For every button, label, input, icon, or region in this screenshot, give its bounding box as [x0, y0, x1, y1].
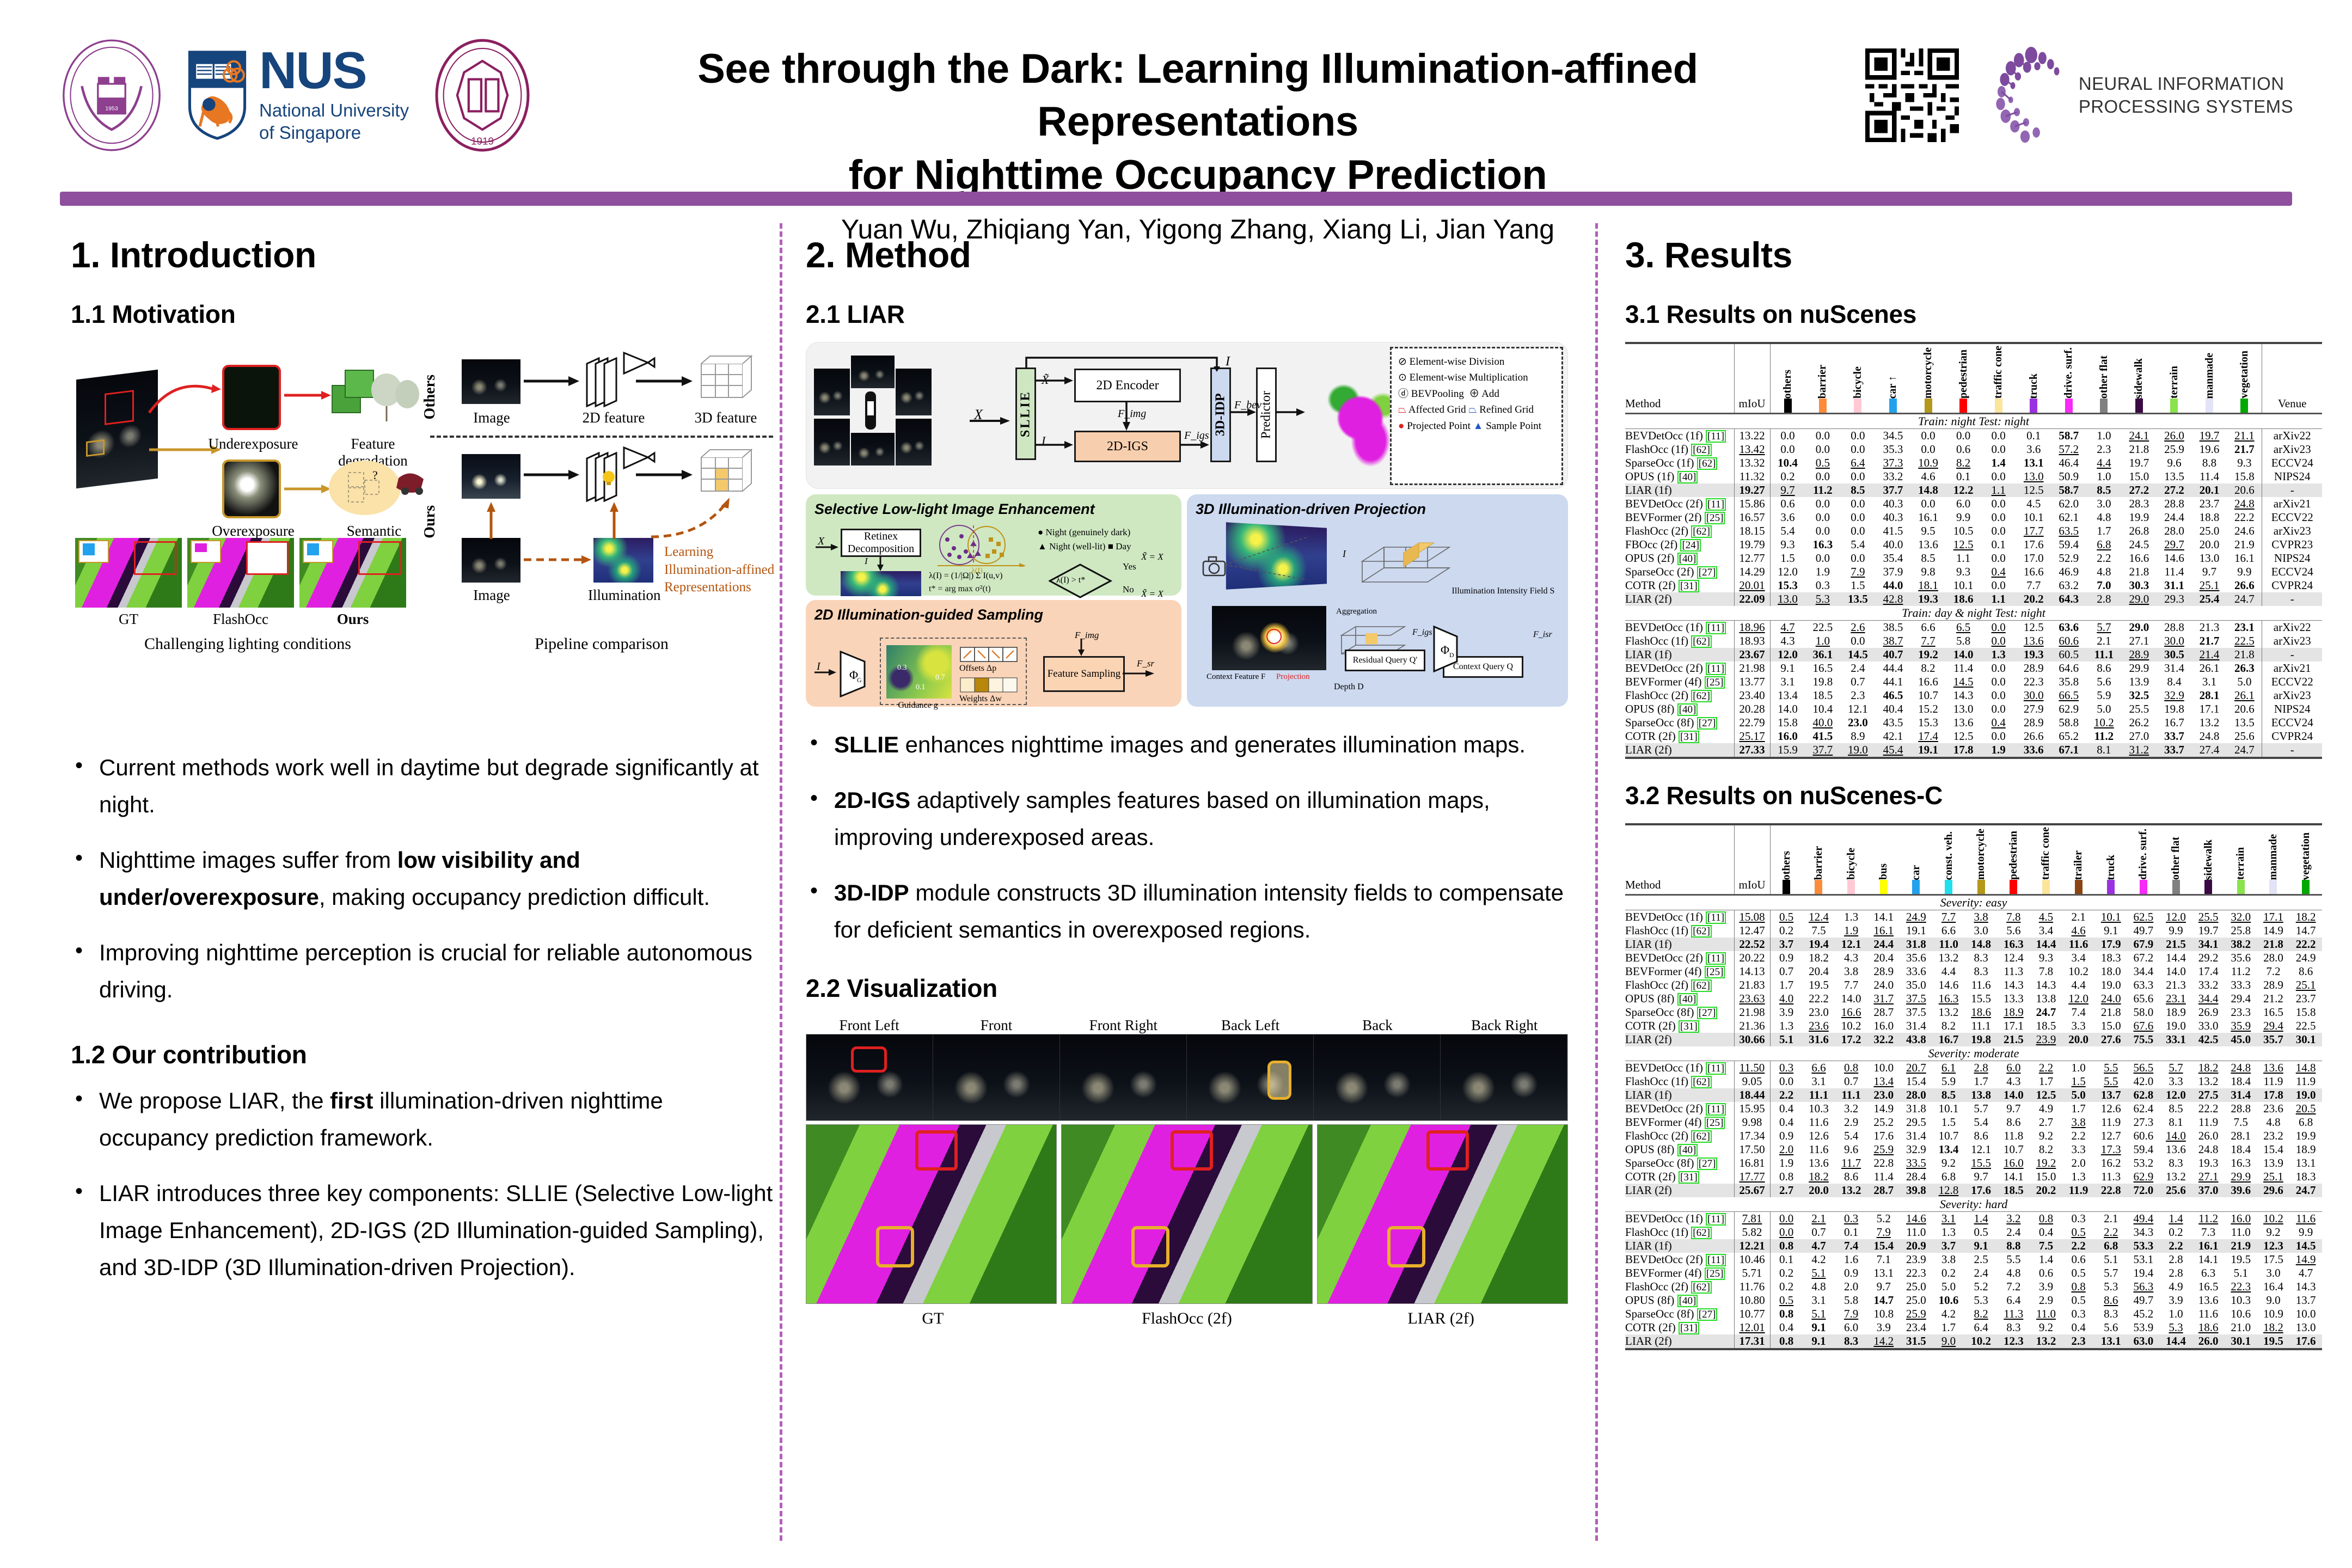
citation-ref[interactable]: [27] [1697, 1157, 1718, 1170]
cell-value: 31.4 [2225, 1088, 2257, 1102]
cell-method: LIAR (1f) [1625, 1088, 1734, 1102]
cell-value: 11.3 [1998, 965, 2030, 978]
citation-ref[interactable]: [40] [1677, 993, 1698, 1006]
equation-tstar: t* = arg max σ²(t) [929, 584, 991, 594]
table-group-caption: Severity: moderate [1625, 1046, 2322, 1061]
citation-ref[interactable]: [11] [1706, 1062, 1726, 1075]
citation-ref[interactable]: [24] [1680, 539, 1701, 552]
citation-ref[interactable]: [62] [1691, 1281, 1712, 1294]
cell-value: 0.4 [1981, 565, 2016, 579]
subsection-3-2-heading: 3.2 Results on nuScenes-C [1625, 781, 2322, 810]
citation-ref[interactable]: [62] [1691, 525, 1712, 538]
cell-value: 25.9 [2157, 443, 2192, 456]
cell-value: 29.9 [2122, 661, 2157, 675]
cell-value: 12.4 [1998, 951, 2030, 965]
table-row: SparseOcc (8f) [27]22.7915.840.023.043.5… [1625, 716, 2322, 730]
bullet-text: enhances nighttime images and generates … [899, 732, 1526, 757]
citation-ref[interactable]: [62] [1691, 690, 1712, 702]
igs-panel: 2D Illumination-guided Sampling I Φ G 0.… [806, 600, 1181, 707]
cell-value: 32.5 [2122, 689, 2157, 702]
neurips-line2: PROCESSING SYSTEMS [2079, 95, 2293, 118]
cell-value: 6.8 [1932, 1170, 1965, 1184]
cell-value: 41.5 [1876, 524, 1911, 538]
column-introduction: 1. Introduction 1.1 Motivation Underexpo… [71, 234, 779, 1304]
cell-miou: 13.77 [1734, 675, 1770, 689]
citation-ref[interactable]: [11] [1706, 430, 1726, 443]
list-item: We propose LIAR, the first illumination-… [71, 1082, 779, 1156]
cell-value: 13.0 [1770, 592, 1805, 606]
table-row: LIAR (2f) 25.672.720.013.228.739.812.817… [1625, 1184, 2322, 1197]
neurips-line1: NEURAL INFORMATION [2079, 72, 2293, 95]
affiliation-logos: 1953 NUS National University of Singapor… [54, 38, 540, 152]
symbol-Fisr: F_isr [1533, 630, 1552, 640]
citation-ref[interactable]: [11] [1706, 911, 1726, 924]
cell-value: 12.5 [1946, 730, 1981, 743]
citation-ref[interactable]: [62] [1691, 1130, 1712, 1143]
cell-value: 17.8 [2257, 1088, 2290, 1102]
cell-value: 46.5 [1876, 689, 1911, 702]
cell-value: 28.1 [2225, 1129, 2257, 1143]
cell-value: 45.2 [2127, 1307, 2160, 1321]
cell-value: 2.3 [2062, 1334, 2095, 1348]
citation-ref[interactable]: [40] [1677, 1144, 1698, 1156]
cell-value: 18.9 [2160, 1006, 2192, 1019]
svg-text:1919: 1919 [471, 136, 494, 147]
illumination-field-label: Illumination Intensity Field S [1435, 586, 1571, 596]
cell-value: 10.5 [1946, 524, 1981, 538]
cell-value: 16.6 [1910, 675, 1946, 689]
cell-value: 3.8 [1835, 965, 1867, 978]
cell-method: FlashOcc (2f) [62] [1625, 1280, 1734, 1294]
cell-value: 31.4 [2157, 661, 2192, 675]
cell-method: FlashOcc (2f) [62] [1625, 524, 1734, 538]
context-feature-label: Context Feature F [1206, 672, 1265, 682]
cell-value: 7.8 [2030, 965, 2062, 978]
cell-value: 44.4 [1876, 661, 1911, 675]
cell-value: 0.4 [2062, 1321, 2095, 1334]
cell-value: 0.1 [1770, 1253, 1803, 1266]
cell-miou: 7.81 [1734, 1212, 1770, 1226]
cell-value: 14.3 [2289, 1280, 2322, 1294]
citation-ref[interactable]: [27] [1697, 1308, 1718, 1321]
citation-ref[interactable]: [62] [1691, 635, 1712, 648]
citation-ref[interactable]: [62] [1691, 979, 1712, 992]
cell-value: 7.4 [1835, 1239, 1867, 1253]
table-row: BEVDetOcc (2f) [11]10.460.14.21.67.123.9… [1625, 1253, 2322, 1266]
cell-miou: 14.29 [1734, 565, 1770, 579]
cell-value: 0.0 [1981, 661, 2016, 675]
citation-ref[interactable]: [11] [1706, 498, 1726, 511]
subsection-1-2-heading: 1.2 Our contribution [71, 1040, 779, 1069]
cell-value: 35.6 [1900, 951, 1933, 965]
cell-value: 67.1 [2051, 743, 2087, 757]
cell-value: 28.1 [2192, 689, 2227, 702]
cell-method: LIAR (1f) [1625, 1239, 1734, 1253]
cell-value: 0.5 [1965, 1226, 1998, 1239]
cell-miou: 17.34 [1734, 1129, 1770, 1143]
dashed-arrow-icon [524, 552, 595, 568]
citation-ref[interactable]: [25] [1705, 512, 1725, 524]
cell-value: 5.5 [1998, 1253, 2030, 1266]
cell-value: 53.2 [2127, 1156, 2160, 1170]
class-color-swatch [2240, 399, 2248, 413]
qr-code-icon[interactable] [1865, 48, 1959, 142]
cell-value: 14.6 [1900, 1212, 1933, 1226]
weights-label: Weights Δw [959, 694, 1002, 704]
cell-method: OPUS (8f) [40] [1625, 1143, 1734, 1156]
right-figure-caption: Pipeline comparison [430, 635, 773, 653]
cell-method: BEVFormer (2f) [25] [1625, 511, 1734, 524]
cell-value: 3.0 [2257, 1266, 2290, 1280]
citation-ref[interactable]: [25] [1705, 966, 1725, 978]
cell-value: 19.8 [2157, 702, 2192, 716]
cell-value: 31.8 [1900, 1102, 1933, 1116]
citation-ref[interactable]: [25] [1705, 1267, 1725, 1280]
citation-ref[interactable]: [11] [1706, 1213, 1726, 1226]
cell-value: 21.8 [2257, 938, 2290, 951]
citation-ref[interactable]: [62] [1691, 1227, 1712, 1239]
others-row-label: Others [421, 375, 460, 419]
cell-value: 0.8 [2030, 1212, 2062, 1226]
cell-miou: 22.79 [1734, 716, 1770, 730]
cell-value: 8.1 [2086, 743, 2122, 757]
cell-value: 14.9 [2257, 924, 2290, 938]
citation-ref[interactable]: [25] [1705, 1117, 1725, 1129]
citation-ref[interactable]: [62] [1691, 925, 1712, 938]
table-group-caption: Train: night Test: night [1625, 414, 2322, 429]
cell-value: 0.0 [1981, 579, 2016, 592]
cell-value: 60.6 [2051, 634, 2087, 648]
cell-value: 40.3 [1876, 497, 1911, 511]
citation-ref[interactable]: [62] [1691, 1076, 1712, 1088]
cell-value: 0.9 [1835, 1266, 1867, 1280]
cell-value: 2.2 [2030, 1061, 2062, 1075]
cell-value: 0.0 [1770, 1212, 1803, 1226]
cell-value: 23.7 [2289, 992, 2322, 1006]
cell-value: 13.0 [2192, 552, 2227, 565]
citation-ref[interactable]: [62] [1697, 457, 1718, 470]
multi-camera-inputs [814, 356, 972, 475]
cell-value: 25.1 [2192, 579, 2227, 592]
overexposure-thumb [222, 460, 281, 518]
cell-value: 10.2 [1835, 1019, 1867, 1033]
cell-value: 29.9 [2225, 1170, 2257, 1184]
cell-value: 2.2 [2086, 552, 2122, 565]
cell-value: 10.2 [2062, 965, 2095, 978]
cell-value: 2.5 [1965, 1253, 1998, 1266]
cell-value: 28.3 [2122, 497, 2157, 511]
occ-ours-thumb [299, 538, 406, 608]
citation-ref[interactable]: [31] [1679, 580, 1699, 592]
class-color-swatch [1847, 880, 1855, 894]
cell-value: 72.0 [2127, 1184, 2160, 1197]
citation-ref[interactable]: [40] [1677, 553, 1698, 565]
cell-value: 37.5 [1900, 992, 1933, 1006]
section-2-heading: 2. Method [806, 234, 1568, 275]
cell-value: 24.9 [2289, 951, 2322, 965]
col-header-class: car [1900, 824, 1933, 895]
cell-method: LIAR (2f) [1625, 1033, 1734, 1046]
cell-value: 19.9 [2289, 1129, 2322, 1143]
cell-value: 11.6 [2062, 938, 2095, 951]
cell-value: 28.0 [2257, 951, 2290, 965]
cell-value: 1.0 [1805, 634, 1841, 648]
cell-value: 11.0 [2030, 1307, 2062, 1321]
cell-value: 32.2 [1867, 1033, 1900, 1046]
cell-value: 35.9 [2225, 1019, 2257, 1033]
cell-value: 35.3 [1876, 443, 1911, 456]
cell-value: 33.7 [2157, 730, 2192, 743]
citation-ref[interactable]: [31] [1679, 1171, 1699, 1184]
distribution-venn-icon [928, 523, 1034, 567]
legend-item: ⊙ Element-wise Multiplication [1398, 370, 1555, 385]
citation-ref[interactable]: [25] [1705, 676, 1725, 689]
citation-ref[interactable]: [31] [1679, 1322, 1699, 1334]
cell-venue: arXiv23 [2262, 634, 2322, 648]
cell-value: 16.1 [2192, 1239, 2225, 1253]
cell-venue: NIPS24 [2262, 552, 2322, 565]
cell-value: 10.2 [2257, 1212, 2290, 1226]
cell-value: 14.2 [1867, 1334, 1900, 1348]
citation-ref[interactable]: [31] [1679, 731, 1699, 743]
cell-value: 31.4 [1900, 1019, 1933, 1033]
cell-value: 19.7 [2192, 429, 2227, 443]
table-row: FlashOcc (2f) [62]18.155.40.00.041.59.51… [1625, 524, 2322, 538]
table-row: COTR (2f) [31]12.010.49.16.03.923.41.76.… [1625, 1321, 2322, 1334]
col-header-class: truck [2016, 343, 2051, 414]
cell-value: 17.6 [2016, 538, 2051, 552]
cell-method: BEVDetOcc (1f) [11] [1625, 621, 1734, 635]
cell-value: 0.0 [1981, 429, 2016, 443]
cell-value: 9.3 [2030, 951, 2062, 965]
citation-ref[interactable]: [40] [1677, 1295, 1698, 1307]
citation-ref[interactable]: [27] [1697, 566, 1718, 579]
cell-miou: 21.98 [1734, 1006, 1770, 1019]
cell-value: 22.2 [2192, 1102, 2225, 1116]
cell-value: 8.6 [2086, 661, 2122, 675]
cell-method: COTR (2f) [31] [1625, 579, 1734, 592]
cell-value: 4.3 [1998, 1075, 2030, 1088]
citation-ref[interactable]: [31] [1679, 1020, 1699, 1033]
cell-value: 9.3 [1770, 538, 1805, 552]
col-header-class: const. veh. [1932, 824, 1965, 895]
cell-value: 23.4 [1900, 1321, 1933, 1334]
cell-value: 1.7 [1965, 1075, 1998, 1088]
cell-value: 16.1 [2227, 552, 2262, 565]
cell-value: 24.8 [2227, 497, 2262, 511]
cell-value: 18.9 [2289, 1143, 2322, 1156]
cell-value: 5.7 [2086, 621, 2122, 635]
cell-value: 1.7 [2086, 524, 2122, 538]
cell-value: 0.8 [1835, 1061, 1867, 1075]
cell-value: 44.0 [1876, 579, 1911, 592]
contribution-bullets: We propose LIAR, the first illumination-… [71, 1082, 779, 1286]
sllie-block: SLLIE [1015, 367, 1036, 460]
class-color-swatch [2237, 880, 2245, 894]
cell-value: 5.6 [1998, 924, 2030, 938]
cell-value: 13.4 [1867, 1075, 1900, 1088]
cell-value: 18.2 [2192, 1061, 2225, 1075]
cell-value: 59.4 [2051, 538, 2087, 552]
cell-value: 3.8 [1965, 910, 1998, 924]
cell-value: 17.1 [2192, 702, 2227, 716]
cell-value: 19.5 [2225, 1253, 2257, 1266]
occupancy-image [806, 1124, 1057, 1304]
cell-value: 1.0 [2086, 470, 2122, 483]
cell-value: 42.1 [1876, 730, 1911, 743]
cell-value: 0.0 [1770, 429, 1805, 443]
cell-method: OPUS (1f) [40] [1625, 470, 1734, 483]
class-color-swatch [1815, 880, 1822, 894]
citation-ref[interactable]: [11] [1706, 663, 1726, 675]
underexposure-thumb [222, 365, 281, 430]
cell-miou: 11.50 [1734, 1061, 1770, 1075]
cell-method: BEVDetOcc (1f) [11] [1625, 1061, 1734, 1075]
cell-value: 20.9 [1900, 1239, 1933, 1253]
cell-value: 4.6 [2062, 924, 2095, 938]
title-block: See through the Dark: Learning Illuminat… [577, 42, 1818, 245]
cell-value: 23.0 [1803, 1006, 1835, 1019]
table-row: BEVFormer (4f) [25]13.773.119.80.744.116… [1625, 675, 2322, 689]
cell-value: 8.3 [1965, 965, 1998, 978]
table-row: FlashOcc (1f) [62]18.934.31.00.038.77.75… [1625, 634, 2322, 648]
citation-ref[interactable]: [62] [1691, 444, 1712, 456]
cell-value: 5.6 [2094, 1321, 2127, 1334]
cell-value: 25.6 [2160, 1184, 2192, 1197]
col-header-method: Method [1625, 343, 1734, 414]
cell-value: 11.4 [2192, 470, 2227, 483]
motivation-figure: Underexposure Feature degradation Overex… [71, 342, 779, 679]
citation-ref[interactable]: [27] [1697, 717, 1718, 730]
cell-miou: 23.40 [1734, 689, 1770, 702]
retinex-block: Retinex Decomposition [841, 529, 921, 557]
cell-value: 1.5 [1770, 552, 1805, 565]
table-row: OPUS (2f) [40]12.771.50.00.035.48.51.10.… [1625, 552, 2322, 565]
cell-value: 23.6 [1803, 1019, 1835, 1033]
cell-value: 0.4 [2030, 1226, 2062, 1239]
class-color-swatch [1783, 880, 1790, 894]
col-header-class: sidewalk [2122, 343, 2157, 414]
cell-value: 0.0 [1981, 511, 2016, 524]
bullet-text: adaptively samples features based on ill… [834, 787, 1490, 850]
cell-value: 0.0 [1981, 470, 2016, 483]
cell-value: 19.3 [2016, 648, 2051, 661]
cell-value: 13.9 [2122, 675, 2157, 689]
symbol-Fsr: F_sr [1137, 658, 1154, 669]
cell-value: 2.1 [2094, 1212, 2127, 1226]
cell-value: 0.8 [1770, 1334, 1803, 1348]
class-color-swatch [2135, 399, 2143, 413]
cell-value: 5.7 [2094, 1266, 2127, 1280]
citation-ref[interactable]: [11] [1706, 1103, 1726, 1116]
cell-value: 27.2 [2122, 483, 2157, 497]
cell-value: 28.4 [1900, 1170, 1933, 1184]
cell-value: 0.2 [1770, 470, 1805, 483]
cell-miou: 12.77 [1734, 552, 1770, 565]
citation-ref[interactable]: [11] [1706, 1254, 1726, 1266]
cell-method: BEVDetOcc (2f) [11] [1625, 1102, 1734, 1116]
table-row: LIAR (1f) 22.523.719.412.124.431.811.014… [1625, 938, 2322, 951]
cell-venue: CVPR24 [2262, 730, 2322, 743]
cell-value: 9.9 [2227, 565, 2262, 579]
citation-ref[interactable]: [27] [1697, 1007, 1718, 1019]
citation-ref[interactable]: [40] [1677, 703, 1698, 716]
cell-value: 23.0 [1840, 716, 1876, 730]
col-header-miou: mIoU [1734, 824, 1770, 895]
table-row: SparseOcc (8f) [27]16.811.913.611.722.83… [1625, 1156, 2322, 1170]
cell-method: FlashOcc (1f) [62] [1625, 634, 1734, 648]
cell-value: 40.0 [1876, 538, 1911, 552]
cell-value: 1.5 [1840, 579, 1876, 592]
col-header-class: sidewalk [2192, 824, 2225, 895]
cell-value: 2.1 [2062, 910, 2095, 924]
sllie-panel: Selective Low-light Image Enhancement X … [806, 494, 1181, 596]
cell-value: 8.2 [1910, 661, 1946, 675]
citation-ref[interactable]: [40] [1677, 471, 1698, 483]
cell-value: 42.5 [2192, 1033, 2225, 1046]
citation-ref[interactable]: [11] [1706, 952, 1726, 965]
cell-value: 40.7 [1876, 648, 1911, 661]
cell-miou: 19.27 [1734, 483, 1770, 497]
cell-miou: 17.77 [1734, 1170, 1770, 1184]
cell-value: 1.7 [2030, 1075, 2062, 1088]
cell-value: 14.9 [2289, 1253, 2322, 1266]
visualization-figure: Front Left Front Front Right Back Left B… [806, 1017, 1568, 1328]
cell-value: 7.9 [1867, 1226, 1900, 1239]
occ-gt-thumb [75, 538, 182, 608]
cell-value: 11.2 [1805, 483, 1841, 497]
cell-value: 10.4 [1805, 702, 1841, 716]
guidance-value-3: 0.1 [916, 683, 926, 692]
cell-value: 9.8 [1910, 565, 1946, 579]
cell-method: LIAR (2f) [1625, 1334, 1734, 1348]
svg-text:Φ: Φ [1441, 643, 1449, 657]
cell-value: 5.3 [1805, 592, 1841, 606]
class-color-swatch [2030, 399, 2037, 413]
table-row: FlashOcc (1f) [62]9.050.03.10.713.415.45… [1625, 1075, 2322, 1088]
cell-value: 12.2 [1946, 483, 1981, 497]
cell-value: 0.9 [1770, 951, 1803, 965]
cell-value: 12.0 [2160, 1088, 2192, 1102]
cell-value: 31.4 [1900, 1129, 1933, 1143]
cell-value: 4.8 [2086, 565, 2122, 579]
cell-value: 0.5 [1770, 910, 1803, 924]
cell-miou: 11.32 [1734, 470, 1770, 483]
cell-method: SparseOcc (1f) [62] [1625, 456, 1734, 470]
cell-value: 14.0 [2160, 965, 2192, 978]
cell-value: 19.3 [1910, 592, 1946, 606]
cell-value: 28.7 [1867, 1006, 1900, 1019]
depth-label: Depth D [1334, 682, 1364, 692]
cell-value: 5.3 [2160, 1321, 2192, 1334]
citation-ref[interactable]: [11] [1706, 622, 1726, 634]
class-color-swatch [2065, 399, 2073, 413]
cell-value: 13.2 [2192, 1075, 2225, 1088]
cell-miou: 10.80 [1734, 1294, 1770, 1307]
cell-venue: arXiv22 [2262, 621, 2322, 635]
cell-value: 20.6 [2227, 483, 2262, 497]
cell-value: 0.2 [1932, 1266, 1965, 1280]
red-arrow-icon-2 [284, 388, 333, 404]
cell-value: 5.3 [2094, 1280, 2127, 1294]
cell-value: 6.8 [2094, 1239, 2127, 1253]
cell-value: 43.8 [1900, 1033, 1933, 1046]
table-row: BEVDetOcc (1f) [11]13.220.00.00.034.50.0… [1625, 429, 2322, 443]
cell-value: 1.3 [1835, 910, 1867, 924]
cell-value: 11.4 [2157, 565, 2192, 579]
cell-value: 21.9 [2225, 1239, 2257, 1253]
cell-value: 0.0 [1910, 497, 1946, 511]
